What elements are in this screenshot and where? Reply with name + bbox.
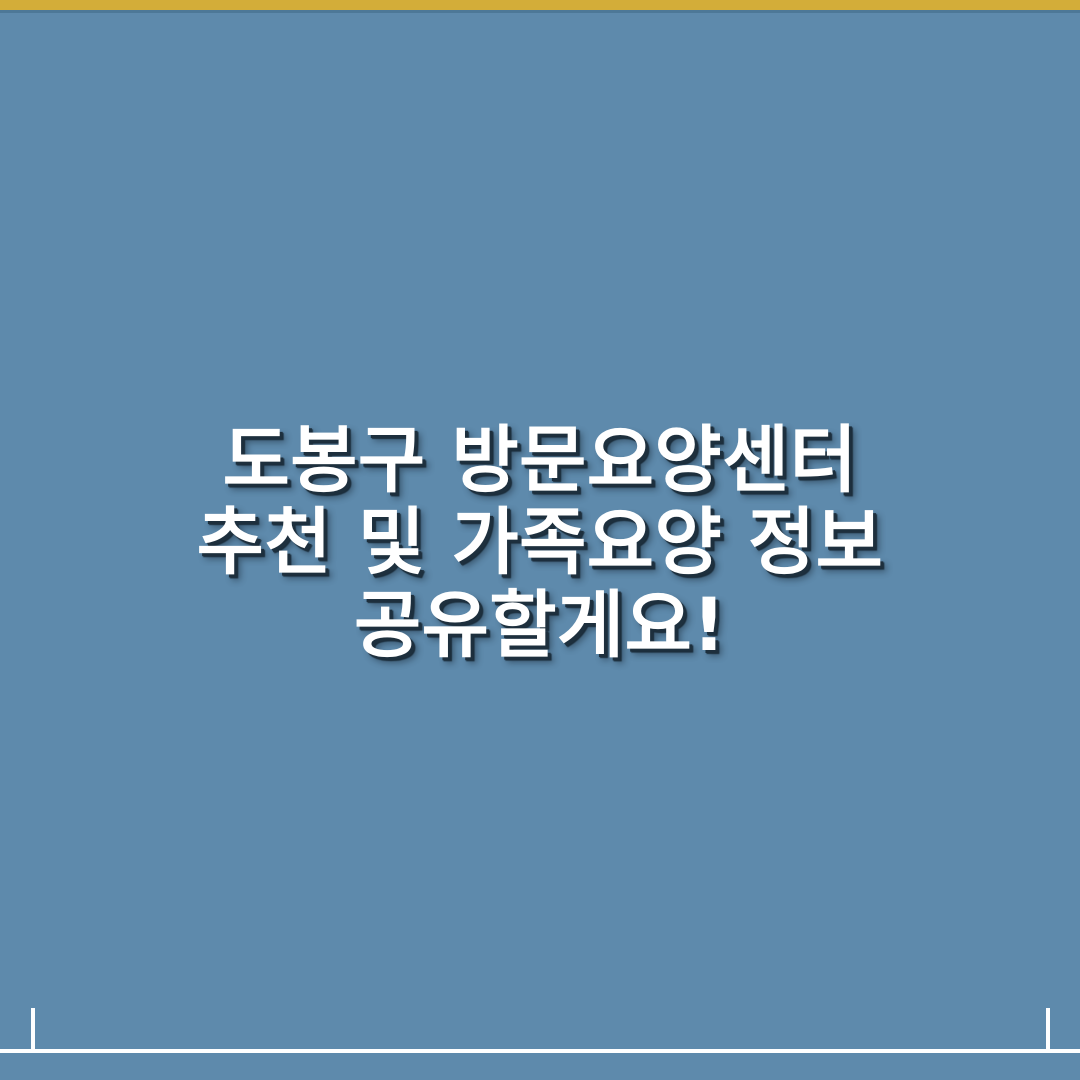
bottom-frame-rule	[0, 1049, 1080, 1053]
headline-text-block: 도봉구 방문요양센터 추천 및 가족요양 정보 공유할게요!	[0, 420, 1080, 667]
headline-line-3: 공유할게요!	[0, 585, 1080, 667]
poster-canvas: 도봉구 방문요양센터 추천 및 가족요양 정보 공유할게요!	[0, 0, 1080, 1080]
top-divider-line	[0, 10, 1080, 13]
top-gold-bar	[0, 0, 1080, 10]
bottom-frame-right-tick	[1046, 1008, 1050, 1053]
headline-line-2: 추천 및 가족요양 정보	[0, 502, 1080, 584]
bottom-frame-left-tick	[31, 1008, 35, 1053]
headline-line-1: 도봉구 방문요양센터	[0, 420, 1080, 502]
